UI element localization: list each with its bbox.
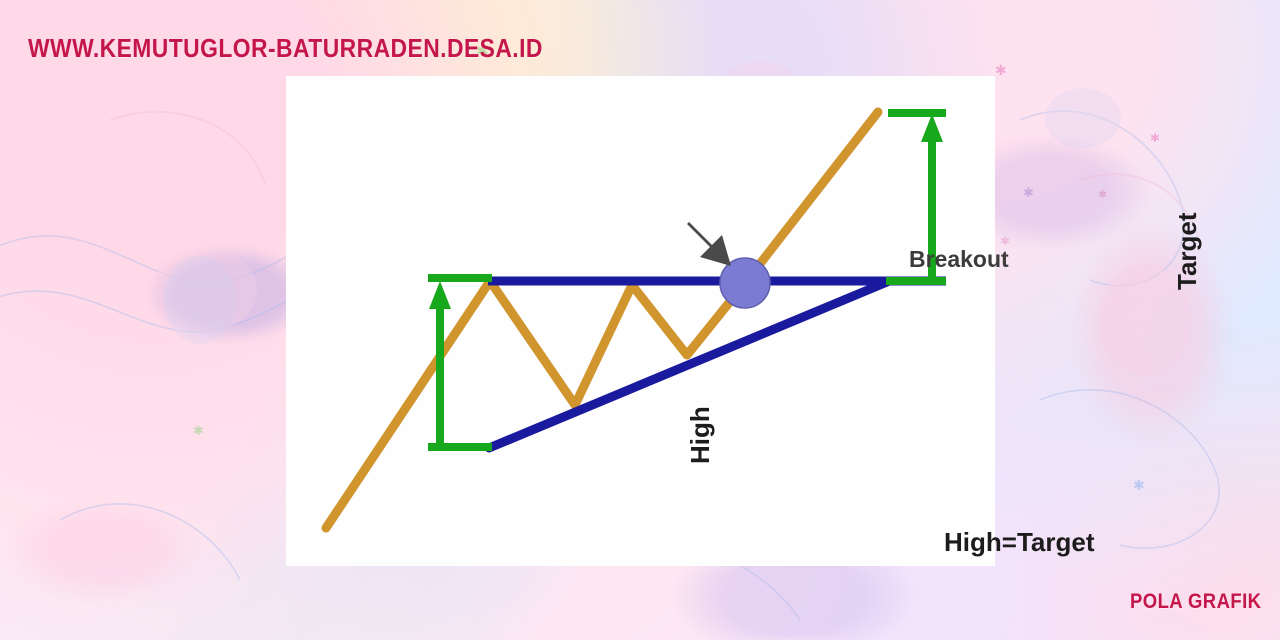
breakout-point-marker xyxy=(720,258,770,308)
svg-text:✱: ✱ xyxy=(995,62,1007,78)
target-label: Target xyxy=(1172,212,1203,290)
high-measure-bracket xyxy=(428,278,492,447)
watermark-bottom-right: POLA GRAFIK xyxy=(1130,590,1261,614)
breakout-arrow-icon xyxy=(687,222,731,266)
svg-text:✱: ✱ xyxy=(193,423,204,438)
svg-text:✱: ✱ xyxy=(1098,189,1107,201)
watermark-top-left: WWW.KEMUTUGLOR-BATURRADEN.DESA.ID xyxy=(28,33,543,64)
svg-text:✱: ✱ xyxy=(1133,477,1145,493)
breakout-label: Breakout xyxy=(909,246,1009,273)
pattern-diagram xyxy=(286,76,995,566)
high-equals-target-label: High=Target xyxy=(944,527,1094,558)
screenshot-canvas: ✱ ✱ ✱ ✱ ✱ ✱ ✱ ✱ ✱ ✱ ✱ WWW.KEMUTUGLOR-BAT… xyxy=(0,0,1280,640)
svg-text:✱: ✱ xyxy=(1150,131,1160,145)
high-label: High xyxy=(685,406,716,464)
svg-text:✱: ✱ xyxy=(1023,185,1034,200)
chart-panel: Breakout High Target High=Target xyxy=(286,76,995,566)
